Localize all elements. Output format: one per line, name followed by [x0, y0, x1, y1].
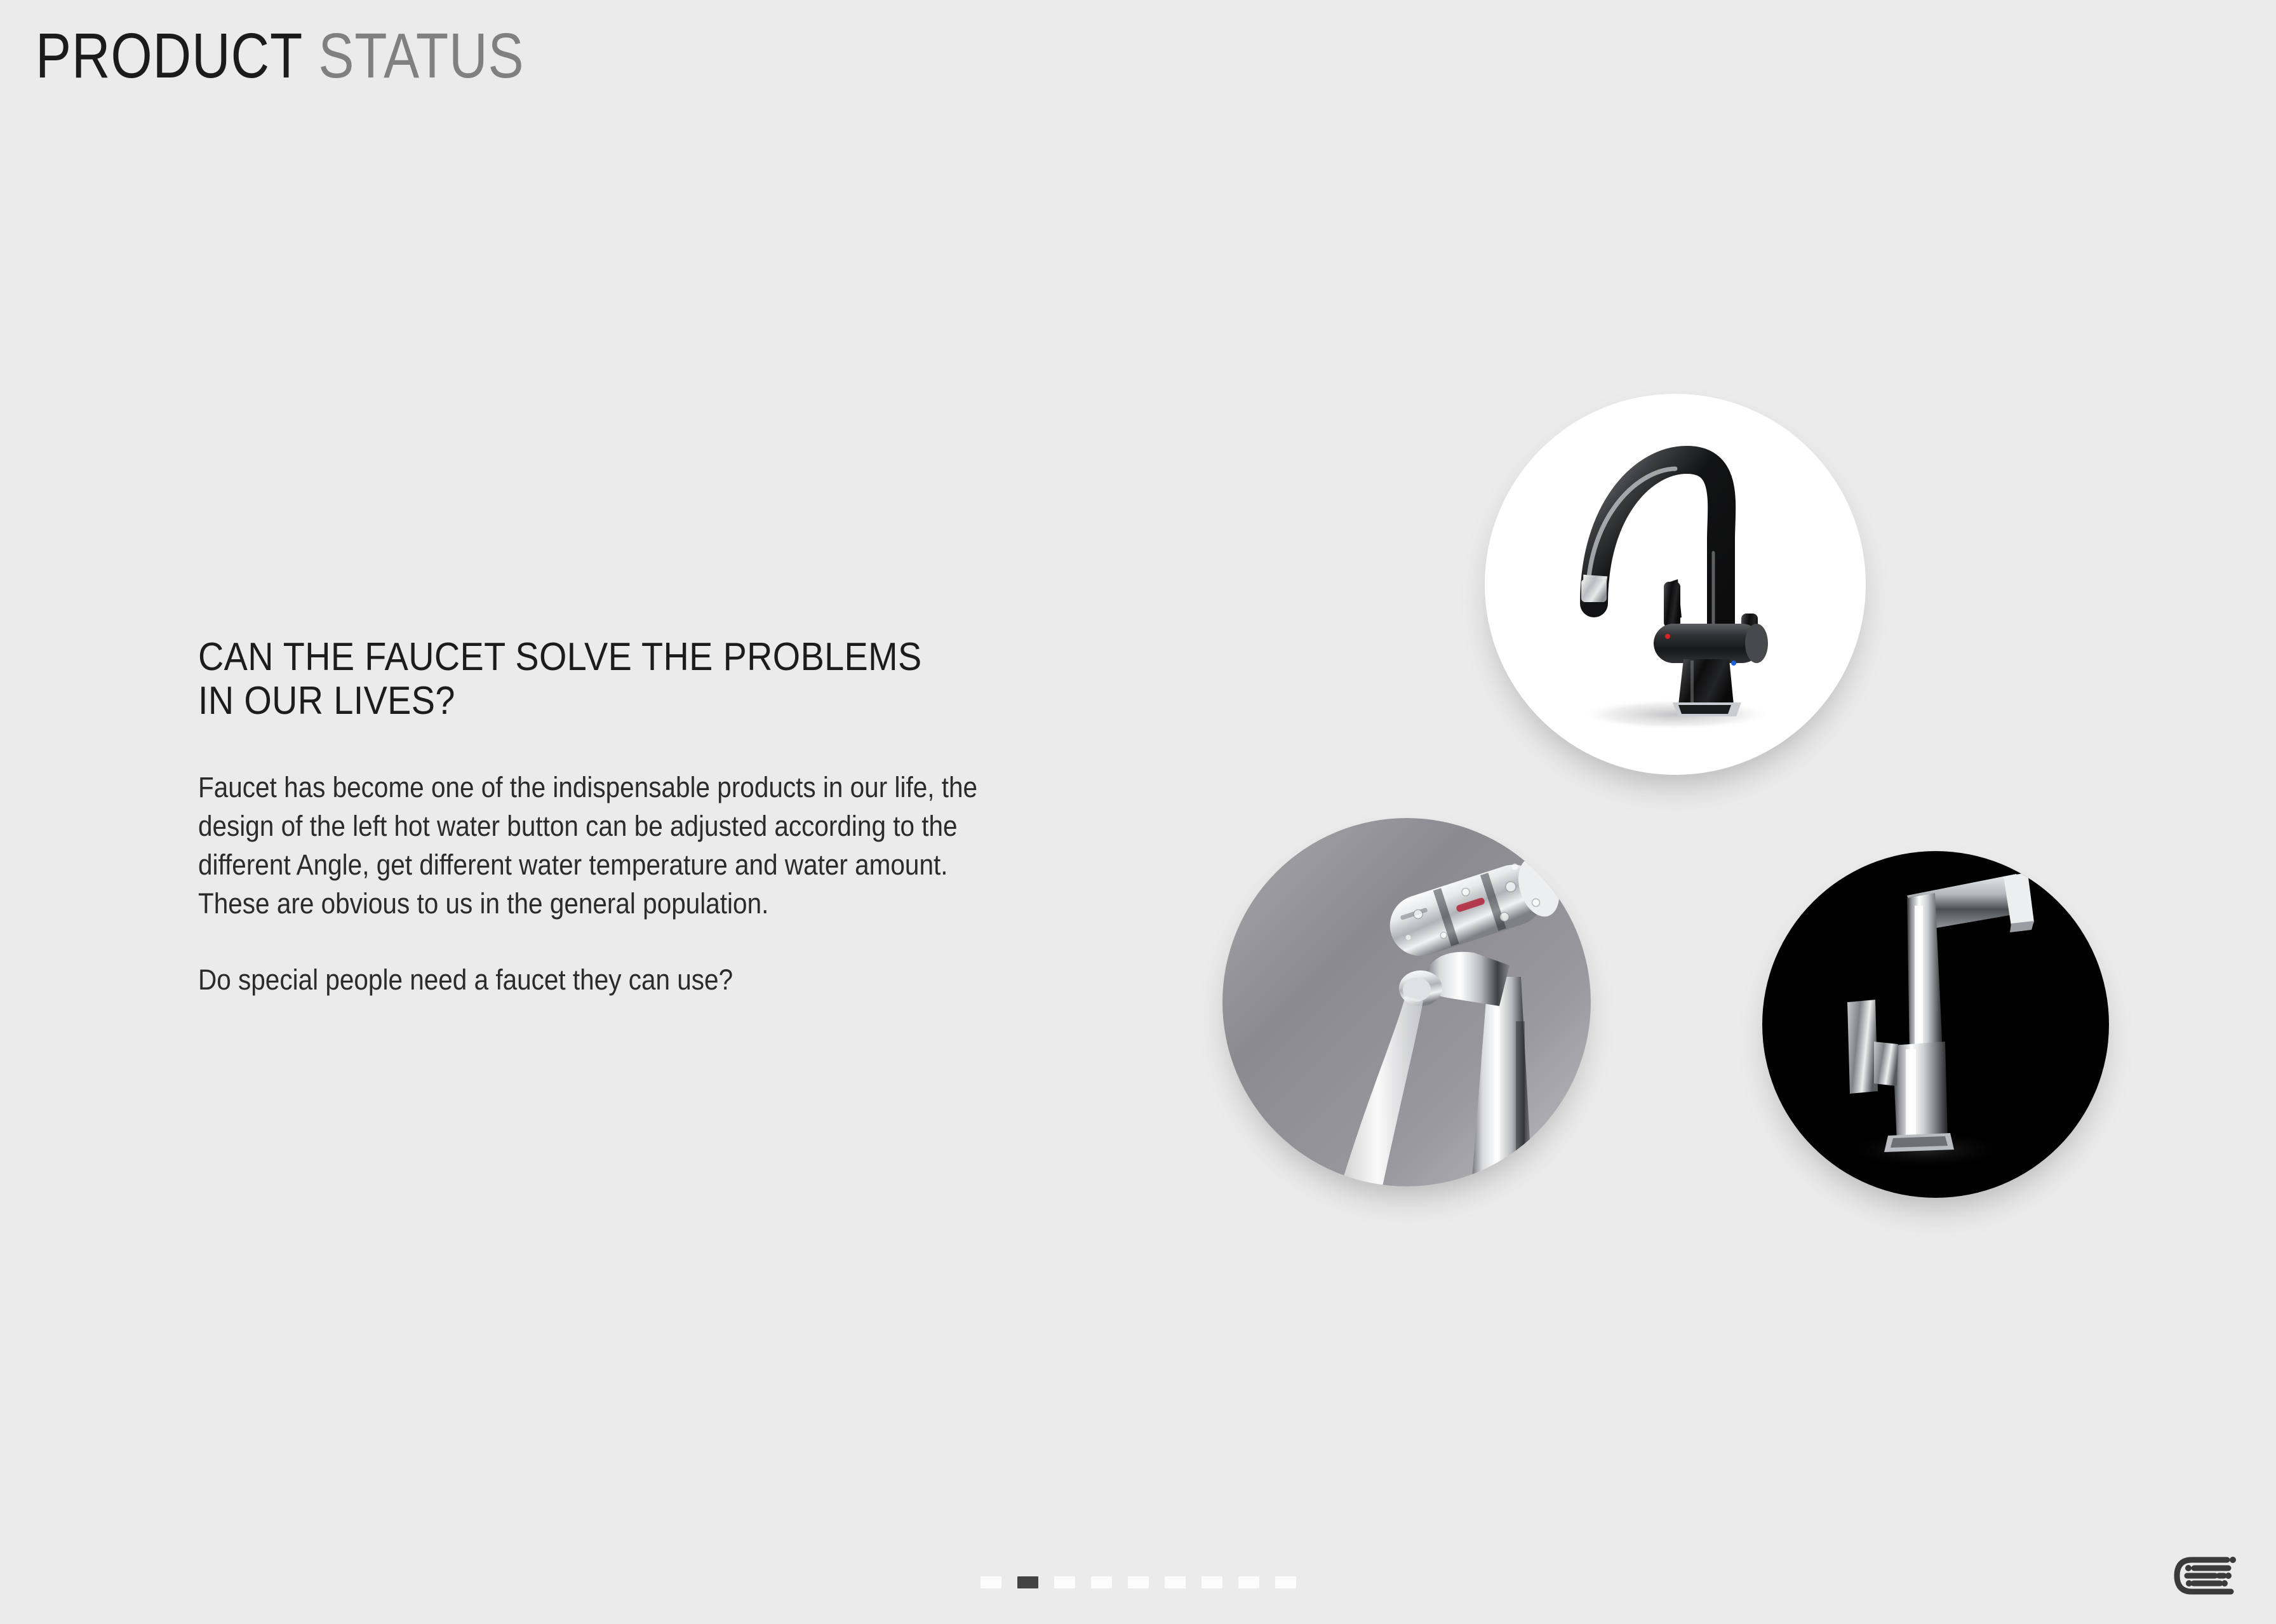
page-title-primary: PRODUCT	[36, 20, 303, 91]
hot-indicator-dot	[1665, 634, 1670, 639]
cold-indicator-dot	[1731, 661, 1736, 666]
pagination-dash-4[interactable]	[1091, 1576, 1112, 1588]
product-image-faucet-water	[1222, 818, 1591, 1186]
pagination-dash-3[interactable]	[1054, 1576, 1075, 1588]
pagination-dash-7[interactable]	[1202, 1576, 1222, 1588]
presentation-slide: PRODUCT STATUS CAN THE FAUCET SOLVE THE …	[0, 0, 2276, 1624]
pagination[interactable]	[0, 1576, 2276, 1588]
pagination-dash-6[interactable]	[1165, 1576, 1186, 1588]
content-paragraph-1: Faucet has become one of the indispensab…	[198, 768, 1090, 923]
pagination-dash-2[interactable]	[1017, 1576, 1038, 1588]
product-image-faucet-square	[1762, 851, 2109, 1198]
product-image-faucet-black	[1485, 394, 1866, 775]
content-paragraph-2: Do special people need a faucet they can…	[198, 960, 1090, 999]
page-title: PRODUCT STATUS	[36, 24, 524, 88]
pagination-dash-9[interactable]	[1275, 1576, 1296, 1588]
content-text-block: CAN THE FAUCET SOLVE THE PROBLEMS IN OUR…	[198, 635, 1189, 999]
pagination-dash-1[interactable]	[981, 1576, 1001, 1588]
pagination-dash-5[interactable]	[1128, 1576, 1149, 1588]
page-title-secondary: STATUS	[318, 20, 524, 91]
pagination-dash-8[interactable]	[1238, 1576, 1259, 1588]
page-title-secondary-space	[303, 20, 318, 91]
content-headline: CAN THE FAUCET SOLVE THE PROBLEMS IN OUR…	[198, 635, 1090, 723]
brand-logo	[2163, 1549, 2253, 1602]
